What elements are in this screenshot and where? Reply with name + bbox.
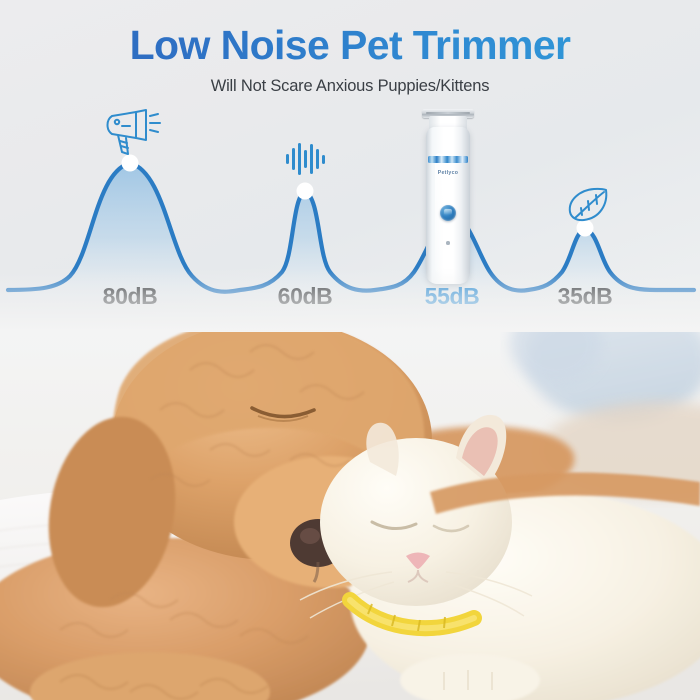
trimmer-indicator-dot — [446, 241, 450, 245]
pet-photo-illustration — [0, 300, 700, 700]
pet-trimmer-product: Petlyco — [425, 109, 471, 284]
hair-dryer-icon — [104, 108, 166, 158]
db-label-55: 55dB — [402, 283, 502, 310]
pet-photo — [0, 300, 700, 700]
leaf-icon — [566, 186, 612, 226]
trimmer-brand-logo: Petlyco — [425, 170, 471, 176]
infographic-canvas: Low Noise Pet Trimmer Will Not Scare Anx… — [0, 0, 700, 700]
trimmer-led-strip — [428, 156, 468, 163]
peak-marker-60db — [297, 183, 314, 200]
trimmer-power-button[interactable] — [440, 205, 456, 221]
infographic-top-panel: Low Noise Pet Trimmer Will Not Scare Anx… — [0, 0, 700, 330]
page-title: Low Noise Pet Trimmer — [0, 22, 700, 69]
sound-wave-icon — [284, 142, 330, 176]
page-subtitle: Will Not Scare Anxious Puppies/Kittens — [0, 77, 700, 96]
db-label-60: 60dB — [255, 283, 355, 310]
db-label-35: 35dB — [535, 283, 635, 310]
db-label-80: 80dB — [80, 283, 180, 310]
